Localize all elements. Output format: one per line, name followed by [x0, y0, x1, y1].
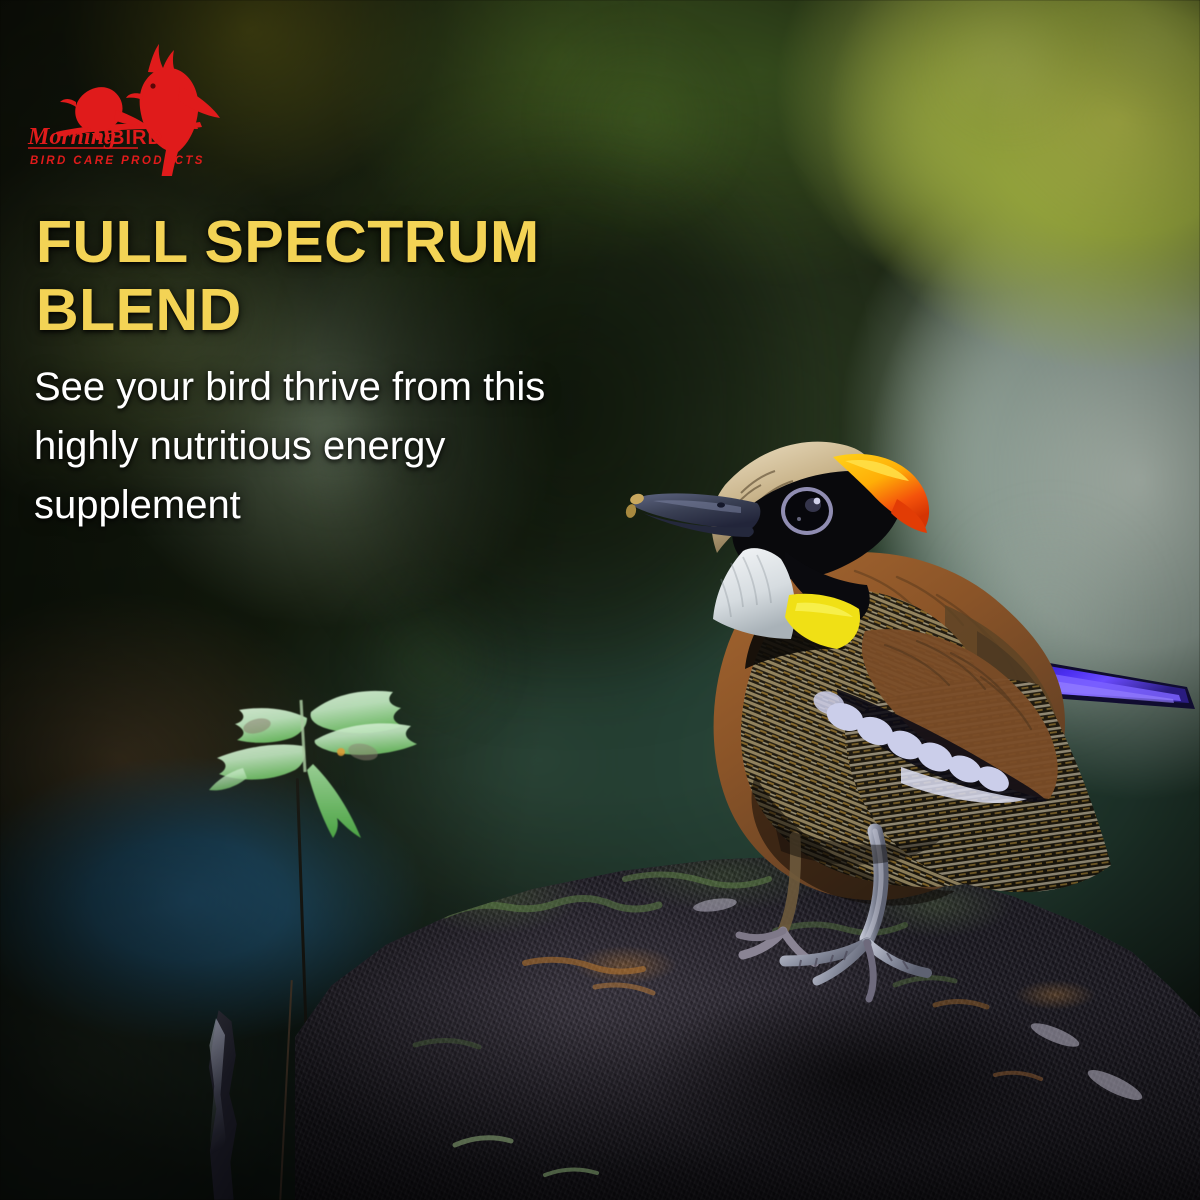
- logo-wordmark-script: Morning: [27, 124, 116, 150]
- headline: FULL SPECTRUM BLEND: [36, 208, 676, 345]
- pitta-bird: [545, 395, 1185, 1035]
- logo-tagline: BIRD CARE PRODUCTS: [30, 155, 205, 167]
- headline-line-2: BLEND: [36, 276, 676, 344]
- promo-poster: Morning BIRD BIRD CARE PRODUCTS FULL SPE…: [0, 0, 1200, 1200]
- bird-eye: [781, 487, 833, 535]
- logo-artwork-icon: Morning BIRD BIRD CARE PRODUCTS: [20, 36, 250, 176]
- logo-wordmark-bold: BIRD: [110, 127, 163, 149]
- headline-line-1: FULL SPECTRUM: [36, 208, 676, 276]
- subheadline: See your bird thrive from this highly nu…: [34, 358, 634, 536]
- fern-leaflets-icon: [195, 660, 495, 860]
- morning-bird-logo[interactable]: Morning BIRD BIRD CARE PRODUCTS: [20, 36, 250, 176]
